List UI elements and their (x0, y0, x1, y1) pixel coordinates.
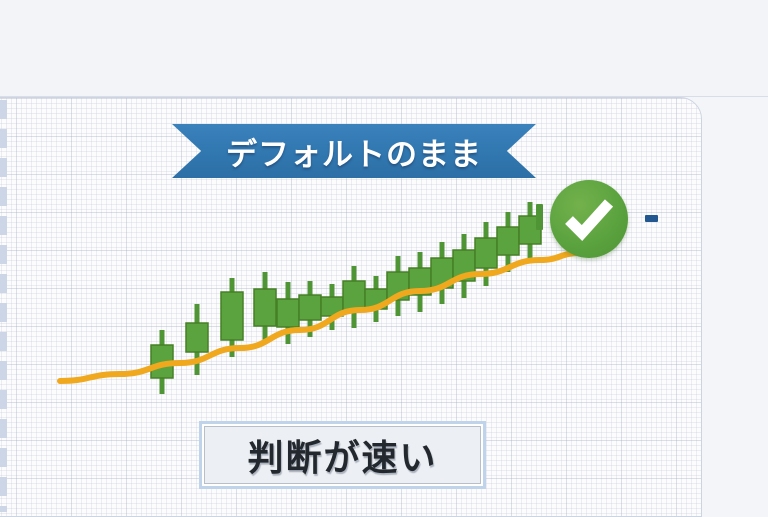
screenshot-stage: デフォルトのまま 判断が速い (0, 0, 768, 512)
top-band (0, 0, 768, 97)
title-banner: デフォルトのまま (172, 124, 536, 178)
caption-box: 判断が速い (199, 421, 486, 489)
banner-label: デフォルトのまま (172, 124, 536, 178)
status-badge (550, 180, 628, 258)
green-marker (536, 204, 543, 230)
blue-dash-marker (645, 215, 658, 222)
checkmark-icon (550, 180, 628, 258)
caption-label: 判断が速い (247, 429, 437, 481)
